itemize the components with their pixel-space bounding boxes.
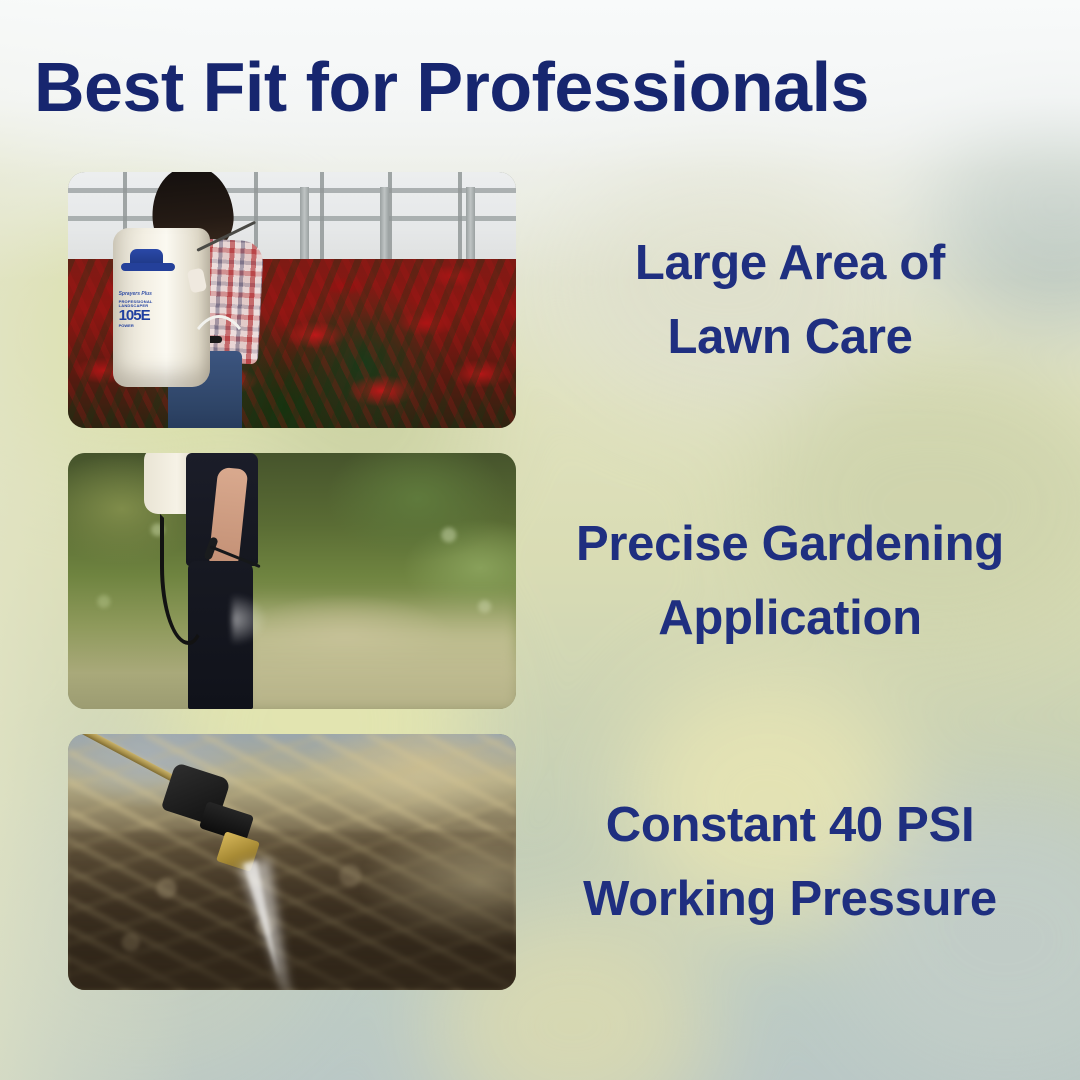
feature-photo-greenhouse: Sprayers Plus PROFESSIONAL LANDSCAPER 10… xyxy=(68,172,516,428)
feature-photo-nozzle xyxy=(68,734,516,990)
caption-line: Constant 40 PSI xyxy=(606,788,975,862)
spray-mist xyxy=(232,594,267,645)
sprayer-brand: Sprayers Plus xyxy=(119,292,167,297)
infographic-root: Best Fit for Professionals xyxy=(0,0,1080,1080)
gardener xyxy=(158,453,274,709)
feature-caption-large-area: Large Area of Lawn Care xyxy=(540,172,1040,428)
feature-row: Constant 40 PSI Working Pressure xyxy=(0,734,1080,990)
tank-cap-brim xyxy=(121,263,175,271)
caption-line: Large Area of xyxy=(635,226,945,300)
caption-line: Application xyxy=(658,581,921,655)
caption-line: Lawn Care xyxy=(667,300,912,374)
sprayer-maker: POWER xyxy=(119,324,167,328)
feature-list: Sprayers Plus PROFESSIONAL LANDSCAPER 10… xyxy=(0,172,1080,992)
sprayer-label: Sprayers Plus PROFESSIONAL LANDSCAPER 10… xyxy=(119,292,167,329)
caption-line: Precise Gardening xyxy=(576,507,1004,581)
page-title: Best Fit for Professionals xyxy=(34,46,1044,128)
feature-caption-constant-psi: Constant 40 PSI Working Pressure xyxy=(540,734,1040,990)
feature-photo-garden-path xyxy=(68,453,516,709)
garden-path xyxy=(247,591,516,709)
sprayer-hose xyxy=(160,514,208,645)
feature-caption-precise-gardening: Precise Gardening Application xyxy=(540,453,1040,709)
sprayer-model: 105E xyxy=(119,308,167,323)
feature-row: Precise Gardening Application xyxy=(0,453,1080,709)
feature-row: Sprayers Plus PROFESSIONAL LANDSCAPER 10… xyxy=(0,172,1080,428)
greenhouse-worker: Sprayers Plus PROFESSIONAL LANDSCAPER 10… xyxy=(113,172,274,428)
caption-line: Working Pressure xyxy=(583,862,997,936)
